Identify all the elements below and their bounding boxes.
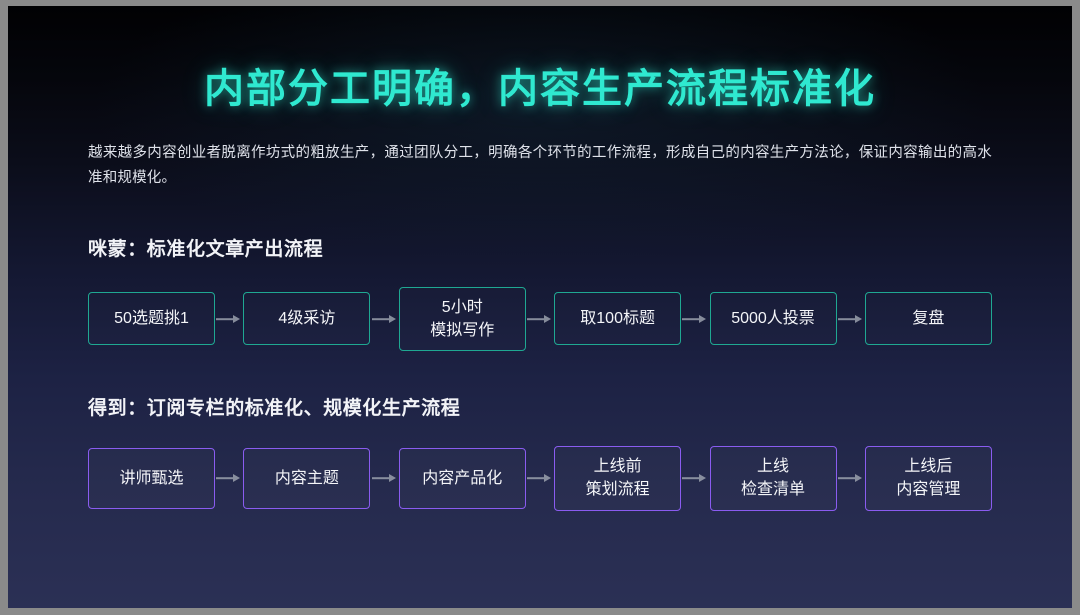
- flow-step-box[interactable]: 5小时模拟写作: [399, 287, 526, 351]
- arrow-right-icon: [682, 472, 708, 484]
- arrow-right-icon: [216, 472, 242, 484]
- flow-step-box[interactable]: 5000人投票: [710, 292, 837, 345]
- flow-step-label: 50选题挑1: [114, 307, 189, 330]
- flow-step-label: 模拟写作: [430, 319, 494, 342]
- flow-step-label: 讲师甄选: [119, 467, 183, 490]
- flow-step-label: 检查清单: [741, 478, 805, 501]
- arrow-right-icon: [372, 313, 398, 325]
- arrow-right-icon: [527, 313, 553, 325]
- arrow-right-icon: [527, 472, 553, 484]
- flow-step-label: 5小时: [442, 296, 483, 319]
- section-header-dedao: 得到：订阅专栏的标准化、规模化生产流程: [88, 393, 992, 420]
- slide-content: 内部分工明确，内容生产流程标准化 越来越多内容创业者脱离作坊式的粗放生产，通过团…: [8, 56, 1072, 511]
- flow-step-box[interactable]: 50选题挑1: [88, 292, 215, 345]
- arrow-right-icon: [838, 313, 864, 325]
- arrow-right-icon: [682, 313, 708, 325]
- flow-row-dedao: 讲师甄选内容主题内容产品化上线前策划流程上线检查清单上线后内容管理: [88, 446, 992, 510]
- flow-step-box[interactable]: 复盘: [865, 292, 992, 345]
- flow-step-label: 复盘: [912, 307, 944, 330]
- flow-step-label: 内容产品化: [422, 467, 502, 490]
- arrow-right-icon: [216, 313, 242, 325]
- flow-step-box[interactable]: 上线前策划流程: [554, 446, 681, 510]
- flow-step-box[interactable]: 4级采访: [243, 292, 370, 345]
- flow-row-mimeng: 50选题挑14级采访5小时模拟写作取100标题5000人投票复盘: [88, 287, 992, 351]
- flow-step-label: 4级采访: [278, 307, 335, 330]
- flow-step-box[interactable]: 取100标题: [554, 292, 681, 345]
- section-header-mimeng: 咪蒙：标准化文章产出流程: [88, 234, 992, 261]
- flow-step-box[interactable]: 上线后内容管理: [865, 446, 992, 510]
- slide-subtitle-paragraph: 越来越多内容创业者脱离作坊式的粗放生产，通过团队分工，明确各个环节的工作流程，形…: [88, 141, 992, 192]
- flow-step-label: 策划流程: [586, 478, 650, 501]
- flow-step-box[interactable]: 内容主题: [243, 448, 370, 509]
- page-title: 内部分工明确，内容生产流程标准化: [88, 56, 992, 114]
- arrow-right-icon: [838, 472, 864, 484]
- flow-step-label: 内容主题: [275, 467, 339, 490]
- flow-step-label: 上线前: [594, 455, 642, 478]
- flow-step-label: 上线后: [904, 455, 952, 478]
- flow-step-box[interactable]: 内容产品化: [399, 448, 526, 509]
- arrow-right-icon: [372, 472, 398, 484]
- flow-step-label: 内容管理: [896, 478, 960, 501]
- flow-step-label: 取100标题: [580, 307, 655, 330]
- section-dedao: 得到：订阅专栏的标准化、规模化生产流程 讲师甄选内容主题内容产品化上线前策划流程…: [88, 393, 992, 510]
- flow-step-label: 上线: [757, 455, 789, 478]
- flow-step-box[interactable]: 上线检查清单: [710, 446, 837, 510]
- section-mimeng: 咪蒙：标准化文章产出流程 50选题挑14级采访5小时模拟写作取100标题5000…: [88, 234, 992, 351]
- flow-step-box[interactable]: 讲师甄选: [88, 448, 215, 509]
- flow-step-label: 5000人投票: [731, 307, 815, 330]
- slide-frame: 内部分工明确，内容生产流程标准化 越来越多内容创业者脱离作坊式的粗放生产，通过团…: [8, 6, 1072, 608]
